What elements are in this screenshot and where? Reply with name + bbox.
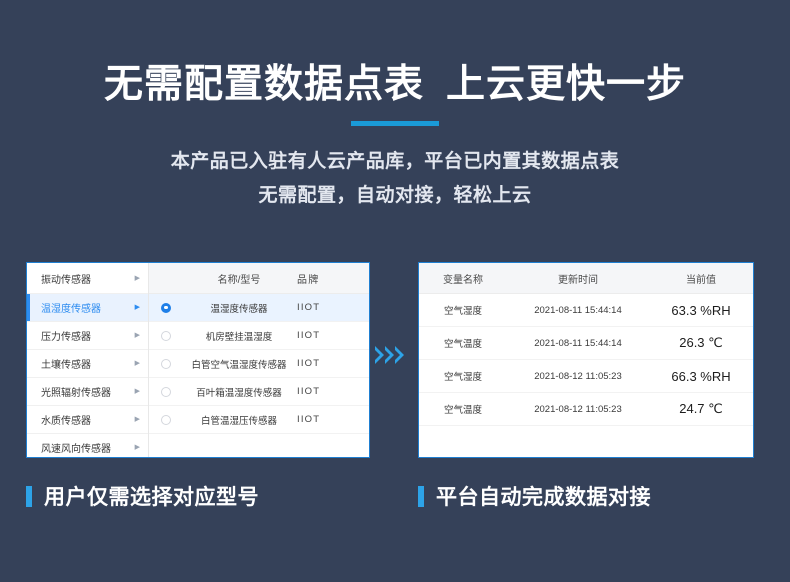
product-list: 名称/型号 品牌 温湿度传感器 IIOT 机房壁挂温湿度 IIOT 白管空气温湿…	[149, 263, 369, 457]
variable-name: 空气湿度	[419, 369, 507, 383]
sidebar-item-soil[interactable]: 土壤传感器 ▶	[27, 350, 148, 378]
table-row[interactable]: 温湿度传感器 IIOT	[149, 294, 369, 322]
radio-icon[interactable]	[161, 359, 171, 369]
page-title-part2: 上云更快一步	[446, 63, 686, 106]
current-value: 66.3 %RH	[649, 369, 753, 384]
chevron-right-icon: ▶	[135, 304, 140, 311]
caption-left: 用户仅需选择对应型号	[26, 481, 259, 511]
variable-name: 空气温度	[419, 402, 507, 416]
chevron-right-icon	[385, 346, 394, 364]
flow-arrow-icon	[375, 342, 415, 368]
radio-selected-icon[interactable]	[161, 303, 171, 313]
current-value: 24.7 ℃	[649, 401, 753, 417]
page-subtitle: 本产品已入驻有人云产品库，平台已内置其数据点表 无需配置，自动对接，轻松上云	[0, 145, 790, 213]
product-brand: IIOT	[295, 302, 369, 313]
column-header-variable: 变量名称	[419, 271, 507, 286]
sidebar-item-label: 振动传感器	[41, 271, 91, 286]
table-row[interactable]: 白管温湿压传感器 IIOT	[149, 406, 369, 434]
product-name: 白管空气温湿度传感器	[183, 357, 295, 371]
column-header-time: 更新时间	[507, 271, 649, 286]
table-row[interactable]: 空气温度 2021-08-12 11:05:23 24.7 ℃	[419, 393, 753, 426]
sidebar-item-label: 温湿度传感器	[41, 300, 101, 315]
left-panel-body: 振动传感器 ▶ 温湿度传感器 ▶ 压力传感器 ▶ 土壤传感器 ▶ 光照辐射传感器…	[27, 263, 369, 457]
row-radio-cell[interactable]	[149, 359, 183, 369]
variable-name: 空气湿度	[419, 303, 507, 317]
chevron-right-icon: ▶	[135, 416, 140, 423]
current-value: 63.3 %RH	[649, 303, 753, 318]
subtitle-line-2: 无需配置，自动对接，轻松上云	[0, 179, 790, 213]
chevron-right-icon	[375, 346, 384, 364]
caption-right: 平台自动完成数据对接	[418, 481, 651, 511]
sidebar-item-light-radiation[interactable]: 光照辐射传感器 ▶	[27, 378, 148, 406]
sidebar-item-pressure[interactable]: 压力传感器 ▶	[27, 322, 148, 350]
column-header-brand: 品牌	[295, 271, 369, 286]
product-brand: IIOT	[295, 386, 369, 397]
table-row[interactable]: 空气湿度 2021-08-12 11:05:23 66.3 %RH	[419, 360, 753, 393]
update-time: 2021-08-12 11:05:23	[507, 371, 649, 382]
product-brand: IIOT	[295, 330, 369, 341]
subtitle-line-1: 本产品已入驻有人云产品库，平台已内置其数据点表	[171, 151, 620, 172]
sidebar-item-temp-humidity[interactable]: 温湿度传感器 ▶	[27, 294, 148, 322]
caption-accent-bar	[418, 486, 424, 507]
sidebar-item-label: 水质传感器	[41, 412, 91, 427]
sidebar-item-label: 风速风向传感器	[41, 440, 111, 455]
product-selection-panel: 振动传感器 ▶ 温湿度传感器 ▶ 压力传感器 ▶ 土壤传感器 ▶ 光照辐射传感器…	[26, 262, 370, 458]
title-accent-bar	[351, 121, 439, 126]
product-name: 白管温湿压传感器	[183, 413, 295, 427]
column-header-name: 名称/型号	[183, 271, 295, 286]
chevron-right-icon	[395, 346, 404, 364]
data-points-panel: 变量名称 更新时间 当前值 空气湿度 2021-08-11 15:44:14 6…	[418, 262, 754, 458]
row-radio-cell[interactable]	[149, 415, 183, 425]
radio-icon[interactable]	[161, 387, 171, 397]
row-radio-cell[interactable]	[149, 331, 183, 341]
product-name: 百叶箱温湿度传感器	[183, 385, 295, 399]
sidebar-item-water-quality[interactable]: 水质传感器 ▶	[27, 406, 148, 434]
current-value: 26.3 ℃	[649, 335, 753, 351]
chevron-right-icon: ▶	[135, 360, 140, 367]
row-radio-cell[interactable]	[149, 303, 183, 313]
table-row[interactable]: 百叶箱温湿度传感器 IIOT	[149, 378, 369, 406]
data-table-header: 变量名称 更新时间 当前值	[419, 263, 753, 294]
sensor-category-sidebar: 振动传感器 ▶ 温湿度传感器 ▶ 压力传感器 ▶ 土壤传感器 ▶ 光照辐射传感器…	[27, 263, 149, 457]
caption-accent-bar	[26, 486, 32, 507]
sidebar-item-vibration[interactable]: 振动传感器 ▶	[27, 263, 148, 294]
radio-icon[interactable]	[161, 415, 171, 425]
radio-icon[interactable]	[161, 331, 171, 341]
table-row[interactable]: 白管空气温湿度传感器 IIOT	[149, 350, 369, 378]
table-row[interactable]: 空气温度 2021-08-11 15:44:14 26.3 ℃	[419, 327, 753, 360]
page-title: 无需配置数据点表上云更快一步	[0, 62, 790, 109]
chevron-right-icon: ▶	[135, 388, 140, 395]
variable-name: 空气温度	[419, 336, 507, 350]
sidebar-item-label: 光照辐射传感器	[41, 384, 111, 399]
sidebar-item-label: 压力传感器	[41, 328, 91, 343]
product-brand: IIOT	[295, 358, 369, 369]
product-name: 机房壁挂温湿度	[183, 329, 295, 343]
row-radio-cell[interactable]	[149, 387, 183, 397]
chevron-right-icon: ▶	[135, 332, 140, 339]
update-time: 2021-08-11 15:44:14	[507, 305, 649, 316]
page-title-part1: 无需配置数据点表	[104, 63, 424, 106]
product-brand: IIOT	[295, 414, 369, 425]
product-name: 温湿度传感器	[183, 301, 295, 315]
table-row[interactable]: 空气湿度 2021-08-11 15:44:14 63.3 %RH	[419, 294, 753, 327]
table-row[interactable]: 机房壁挂温湿度 IIOT	[149, 322, 369, 350]
chevron-right-icon: ▶	[135, 444, 140, 451]
update-time: 2021-08-12 11:05:23	[507, 404, 649, 415]
caption-right-text: 平台自动完成数据对接	[436, 481, 651, 511]
product-list-header: 名称/型号 品牌	[149, 263, 369, 294]
update-time: 2021-08-11 15:44:14	[507, 338, 649, 349]
sidebar-item-label: 土壤传感器	[41, 356, 91, 371]
chevron-right-icon: ▶	[135, 275, 140, 282]
caption-left-text: 用户仅需选择对应型号	[44, 481, 259, 511]
sidebar-item-wind[interactable]: 风速风向传感器 ▶	[27, 434, 148, 458]
column-header-value: 当前值	[649, 271, 753, 286]
